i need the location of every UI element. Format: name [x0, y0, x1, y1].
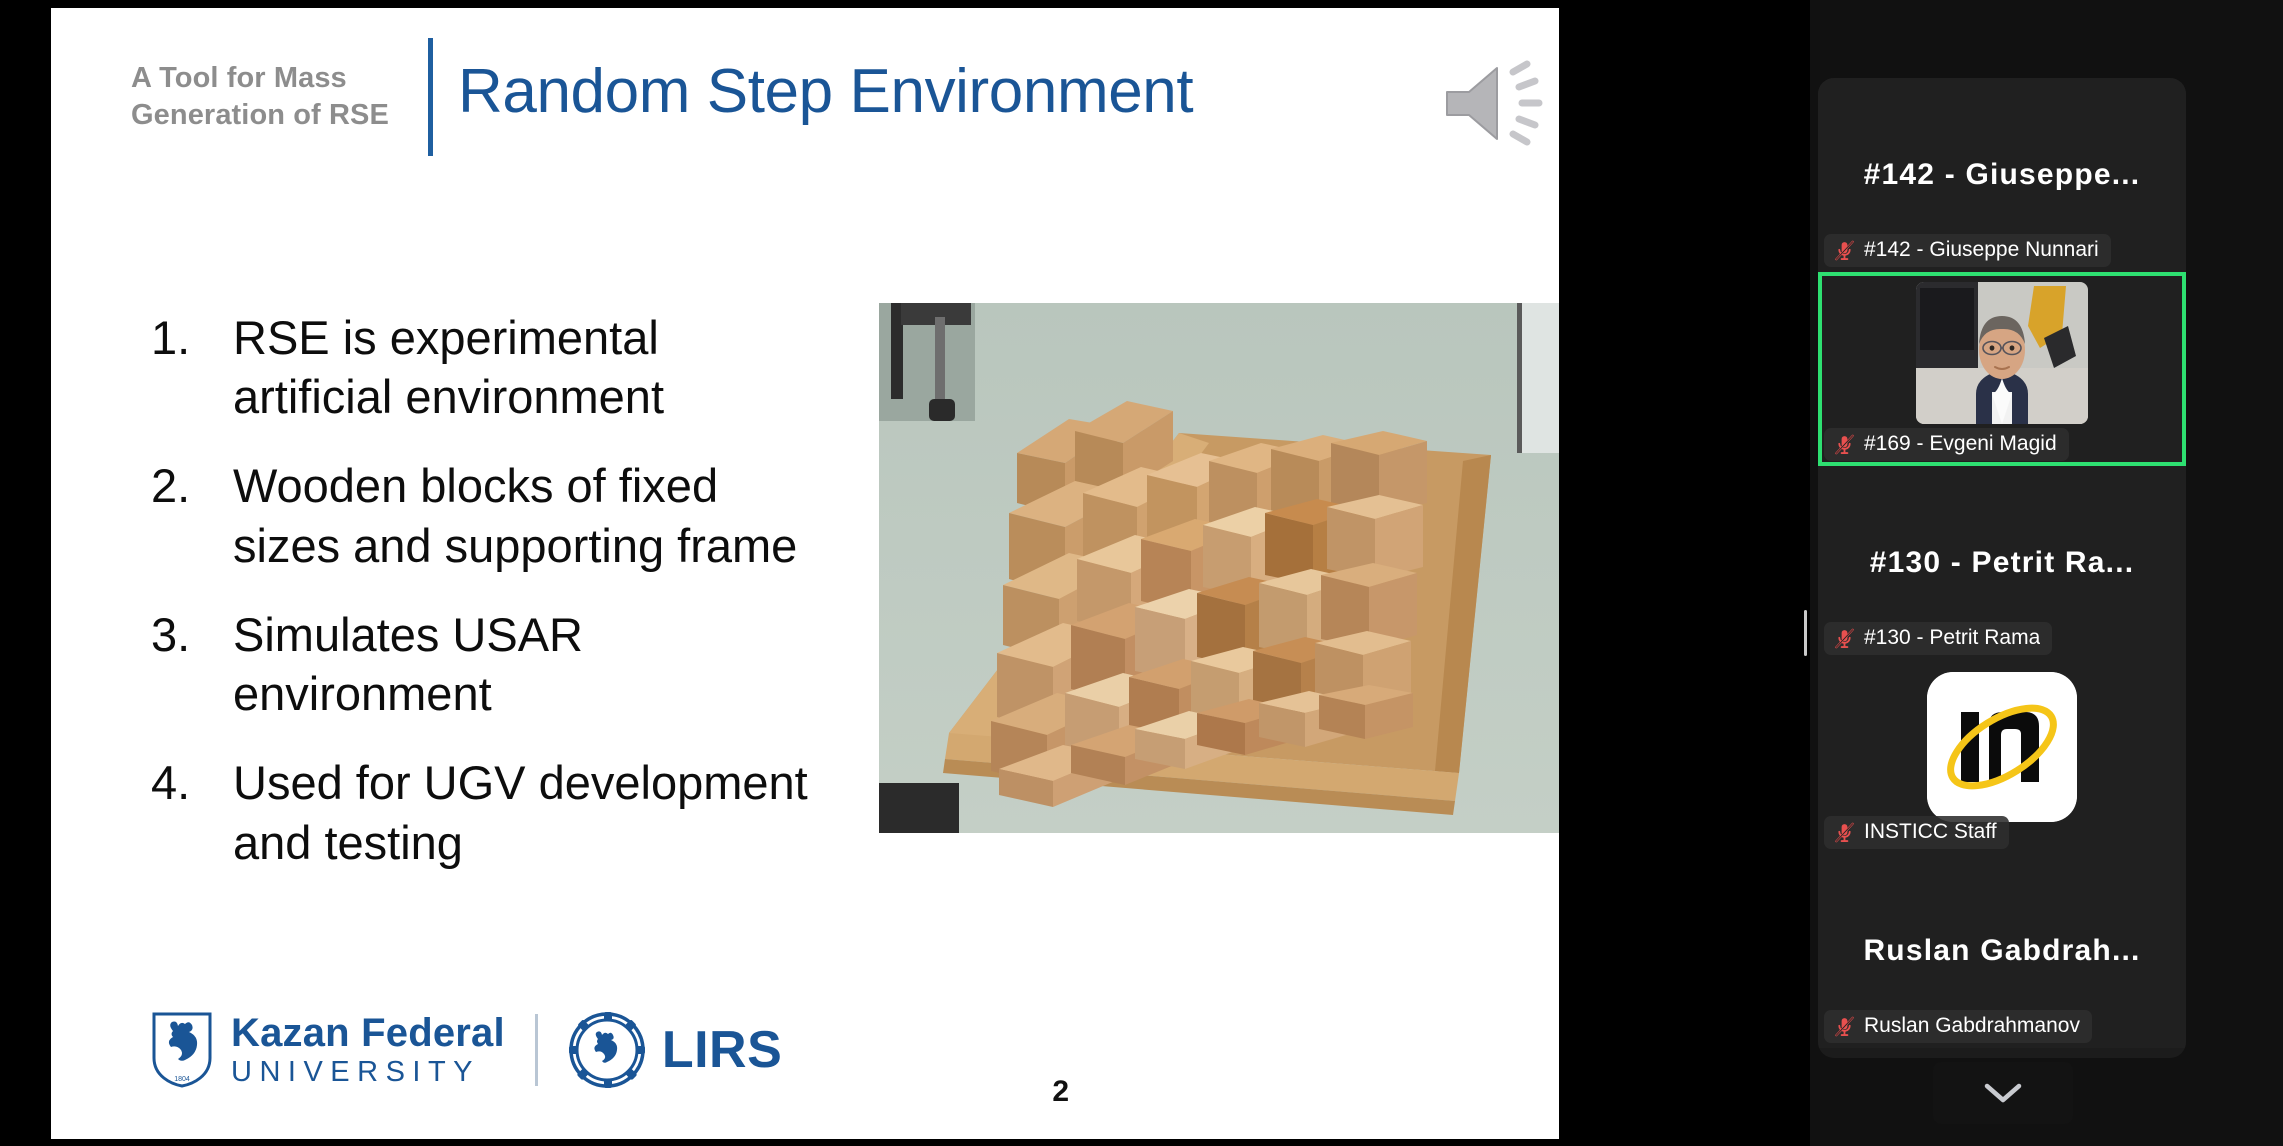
random-step-environment-photo	[879, 303, 1559, 833]
presentation-slide: A Tool for Mass Generation of RSE Random…	[51, 8, 1559, 1139]
participant-tile[interactable]: #142 - Giuseppe... #142 - Giuseppe Nunna…	[1818, 78, 2186, 272]
participants-filmstrip: #142 - Giuseppe... #142 - Giuseppe Nunna…	[1810, 0, 2283, 1146]
slide-subtitle-line1: A Tool for Mass	[131, 60, 421, 97]
list-item-text: Wooden blocks of fixed sizes and support…	[233, 456, 831, 574]
participant-display-name-large: #130 - Petrit Ra...	[1870, 546, 2135, 580]
list-item: 3. Simulates USAR environment	[151, 605, 831, 723]
list-item: 1. RSE is experimental artificial enviro…	[151, 308, 831, 426]
list-item: 2. Wooden blocks of fixed sizes and supp…	[151, 456, 831, 574]
mic-muted-icon	[1833, 239, 1856, 262]
kfu-name-line2: UNIVERSITY	[231, 1058, 505, 1087]
mic-muted-icon	[1833, 1015, 1856, 1038]
participant-name: #169 - Evgeni Magid	[1864, 432, 2057, 456]
list-item-number: 1.	[151, 308, 233, 426]
list-item-text: RSE is experimental artificial environme…	[233, 308, 831, 426]
participant-display-name-large: Ruslan Gabdrah...	[1863, 934, 2140, 968]
participant-tile-active-speaker[interactable]: #169 - Evgeni Magid	[1818, 272, 2186, 466]
shared-screen-stage: A Tool for Mass Generation of RSE Random…	[0, 0, 1810, 1146]
kazan-federal-university-logo: 1804 Kazan Federal UNIVERSITY	[151, 1011, 505, 1089]
insticc-logo-avatar	[1927, 672, 2077, 822]
logo-divider	[535, 1014, 538, 1086]
list-item-text: Simulates USAR environment	[233, 605, 831, 723]
lirs-logo: LIRS	[568, 1011, 782, 1089]
scroll-down-button[interactable]	[1933, 1062, 2073, 1124]
slide-subtitle-line2: Generation of RSE	[131, 97, 421, 134]
slide-header: A Tool for Mass Generation of RSE Random…	[51, 8, 1559, 183]
mic-muted-icon	[1833, 821, 1856, 844]
mic-muted-icon	[1833, 433, 1856, 456]
participant-name-bar: #142 - Giuseppe Nunnari	[1824, 234, 2111, 267]
kfu-wordmark: Kazan Federal UNIVERSITY	[231, 1013, 505, 1087]
mic-muted-icon	[1833, 627, 1856, 650]
slide-title: Random Step Environment	[458, 56, 1193, 127]
participant-name-bar: Ruslan Gabdrahmanov	[1824, 1010, 2092, 1043]
list-item: 4. Used for UGV development and testing	[151, 753, 831, 871]
participant-tile[interactable]: Ruslan Gabdrah... Ruslan Gabdrahmanov	[1818, 854, 2186, 1048]
participant-video-feed	[1916, 282, 2088, 424]
list-item-text: Used for UGV development and testing	[233, 753, 831, 871]
participant-name: #142 - Giuseppe Nunnari	[1864, 238, 2099, 262]
chevron-down-icon	[1981, 1079, 2025, 1107]
svg-text:1804: 1804	[174, 1076, 190, 1083]
participant-name: #130 - Petrit Rama	[1864, 626, 2040, 650]
header-divider	[428, 38, 433, 156]
lirs-wordmark: LIRS	[662, 1020, 782, 1080]
slide-subtitle: A Tool for Mass Generation of RSE	[131, 60, 421, 134]
kfu-name-line1: Kazan Federal	[231, 1013, 505, 1053]
participant-name-bar: #169 - Evgeni Magid	[1824, 428, 2069, 461]
speaker-volume-icon	[1439, 56, 1559, 151]
kfu-shield-icon: 1804	[151, 1011, 213, 1089]
slide-footer-logos: 1804 Kazan Federal UNIVERSITY	[151, 1005, 782, 1095]
slide-page-number: 2	[1052, 1075, 1069, 1109]
participant-name: Ruslan Gabdrahmanov	[1864, 1014, 2080, 1038]
list-item-number: 4.	[151, 753, 233, 871]
participant-tile[interactable]: INSTICC Staff	[1818, 660, 2186, 854]
list-item-number: 3.	[151, 605, 233, 723]
participant-name: INSTICC Staff	[1864, 820, 1997, 844]
participant-tiles-container[interactable]: #142 - Giuseppe... #142 - Giuseppe Nunna…	[1818, 78, 2186, 1058]
meeting-screen: A Tool for Mass Generation of RSE Random…	[0, 0, 2283, 1146]
lirs-gear-icon	[568, 1011, 646, 1089]
participant-name-bar: INSTICC Staff	[1824, 816, 2009, 849]
participant-tile[interactable]: #130 - Petrit Ra... #130 - Petrit Rama	[1818, 466, 2186, 660]
participant-name-bar: #130 - Petrit Rama	[1824, 622, 2052, 655]
participant-display-name-large: #142 - Giuseppe...	[1864, 158, 2141, 192]
list-item-number: 2.	[151, 456, 233, 574]
slide-bullet-list: 1. RSE is experimental artificial enviro…	[151, 308, 831, 902]
